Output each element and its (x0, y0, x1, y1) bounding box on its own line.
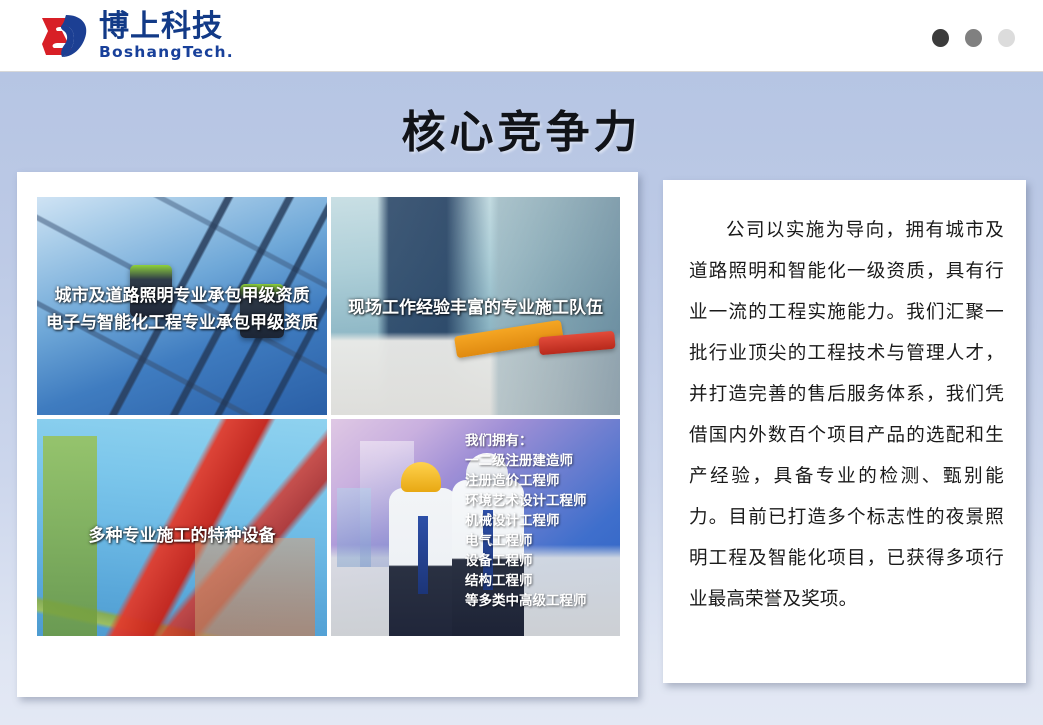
page-indicator-dots[interactable] (932, 29, 1015, 47)
skills-heading: 我们拥有： (465, 431, 610, 451)
skill-item: 电气工程师 (465, 531, 610, 551)
description-text: 公司以实施为导向，拥有城市及道路照明和智能化一级资质，具有行业一流的工程实施能力… (689, 210, 1004, 620)
slide-page: 博上科技 BoshangTech. 核心竞争力 城市及道路照明专业承包甲级资质 … (0, 0, 1043, 725)
skill-item: 环境艺术设计工程师 (465, 491, 610, 511)
photo-grid: 城市及道路照明专业承包甲级资质 电子与智能化工程专业承包甲级资质 现场工作经验丰… (37, 197, 620, 646)
logo-chinese-name: 博上科技 (99, 12, 234, 42)
skills-overlay: 我们拥有： 一二级注册建造师 注册造价工程师 环境艺术设计工程师 机械设计工程师… (465, 431, 610, 611)
caption-line: 电子与智能化工程专业承包甲级资质 (46, 310, 318, 337)
engineer-yellow-helmet (389, 488, 457, 636)
photo-caption-2: 现场工作经验丰富的专业施工队伍 (348, 293, 603, 318)
skill-item: 结构工程师 (465, 571, 610, 591)
gallery-card: 城市及道路照明专业承包甲级资质 电子与智能化工程专业承包甲级资质 现场工作经验丰… (17, 172, 638, 697)
photo-engineers: 我们拥有： 一二级注册建造师 注册造价工程师 环境艺术设计工程师 机械设计工程师… (331, 419, 620, 636)
caption-line: 城市及道路照明专业承包甲级资质 (46, 283, 318, 310)
skill-item: 一二级注册建造师 (465, 451, 610, 471)
logo-english-name: BoshangTech. (99, 45, 234, 61)
company-logo[interactable]: 博上科技 BoshangTech. (38, 12, 234, 61)
skill-item: 等多类中高级工程师 (465, 591, 610, 611)
photo-caption-3: 多种专业施工的特种设备 (89, 521, 276, 546)
boshang-b-logo-icon (38, 12, 90, 60)
page-header: 博上科技 BoshangTech. (0, 0, 1043, 72)
dot-mid-icon[interactable] (965, 29, 982, 47)
photo-aerial-lift-equipment: 多种专业施工的特种设备 (37, 419, 327, 636)
skill-item: 机械设计工程师 (465, 511, 610, 531)
skyline-building-b (337, 488, 371, 566)
description-panel: 公司以实施为导向，拥有城市及道路照明和智能化一级资质，具有行业一流的工程实施能力… (663, 180, 1026, 683)
photo-caption-1: 城市及道路照明专业承包甲级资质 电子与智能化工程专业承包甲级资质 (46, 283, 318, 337)
dot-dark-icon[interactable] (932, 29, 949, 47)
photo-construction-site: 现场工作经验丰富的专业施工队伍 (331, 197, 620, 415)
skill-item: 设备工程师 (465, 551, 610, 571)
photo-glass-curtain-wall: 城市及道路照明专业承包甲级资质 电子与智能化工程专业承包甲级资质 (37, 197, 327, 415)
dot-light-icon[interactable] (998, 29, 1015, 47)
page-title: 核心竞争力 (0, 96, 1043, 160)
skill-item: 注册造价工程师 (465, 471, 610, 491)
logo-wordmark: 博上科技 BoshangTech. (99, 12, 234, 61)
